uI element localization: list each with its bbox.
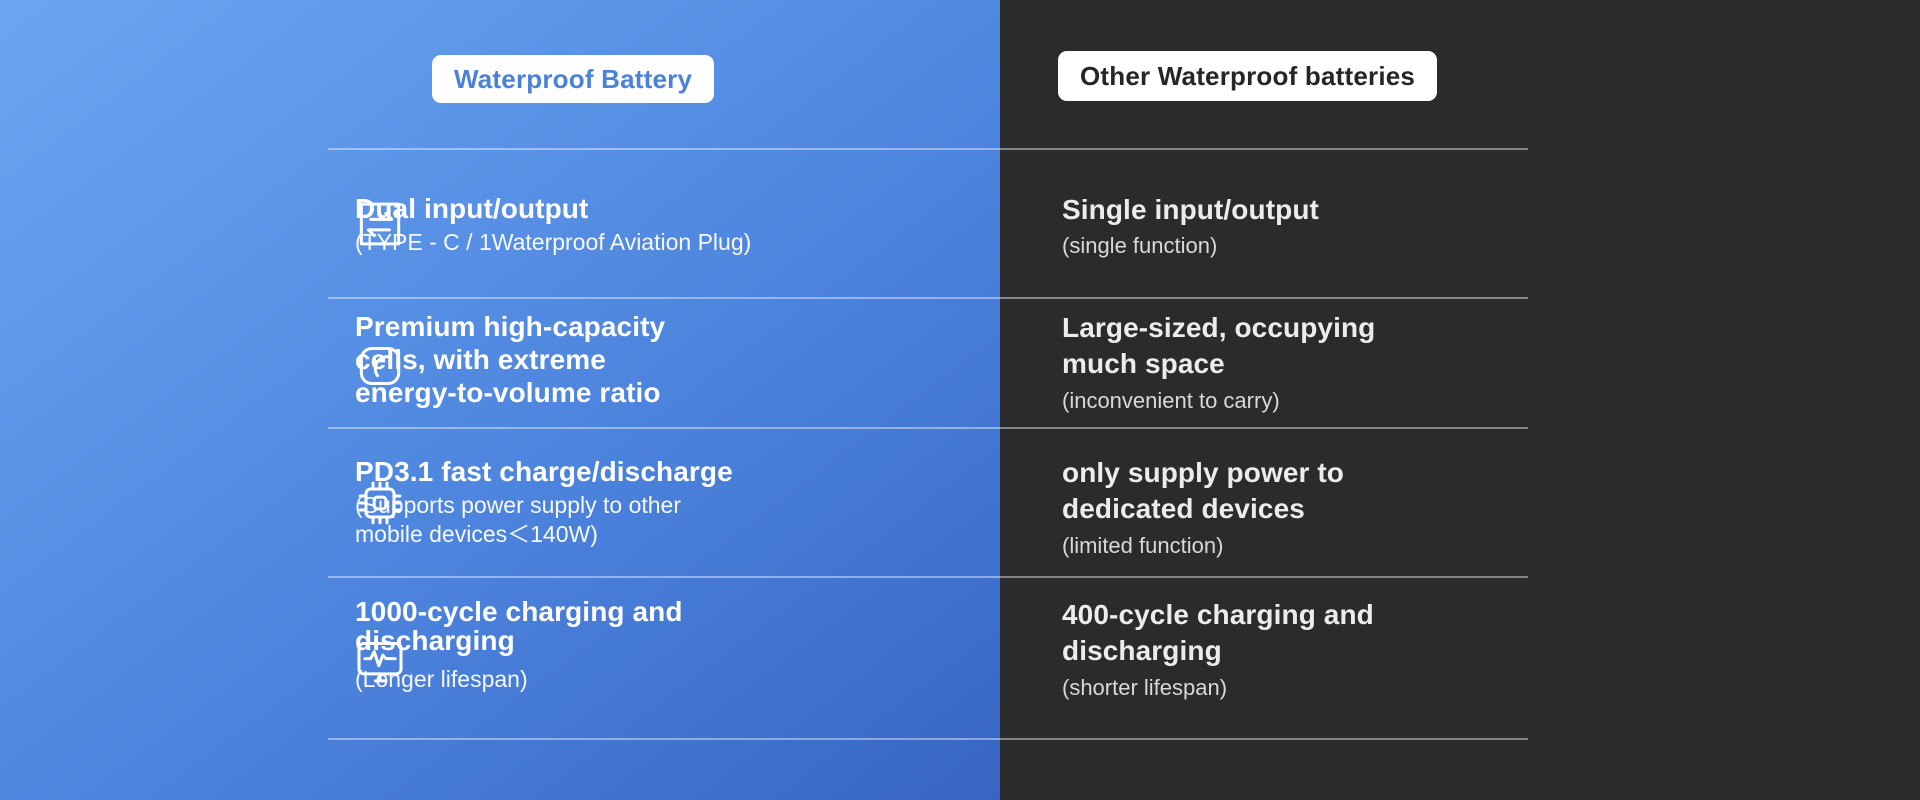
feature-title: Premium high-capacity cells, with extrem… <box>355 310 1000 409</box>
left-cell: PD3.1 fast charge/discharge (Supports po… <box>0 455 1000 559</box>
left-cell: Premium high-capacity cells, with extrem… <box>0 310 1000 414</box>
table-row: Premium high-capacity cells, with extrem… <box>0 310 1920 414</box>
table-header-row: Waterproof Battery Other Waterproof batt… <box>0 55 1920 117</box>
divider-row-3 <box>328 576 1528 578</box>
divider-top <box>328 148 1528 150</box>
feature-subtitle: (inconvenient to carry) <box>1062 387 1920 415</box>
table-row: PD3.1 fast charge/discharge (Supports po… <box>0 455 1920 559</box>
feature-title: Single input/output <box>1062 192 1920 228</box>
feature-subtitle: (Supports power supply to other mobile d… <box>355 491 1000 549</box>
feature-title: Dual input/output <box>355 192 1000 225</box>
feature-title: 400-cycle charging and discharging <box>1062 597 1920 670</box>
header-pill-waterproof-battery: Waterproof Battery <box>432 55 714 103</box>
feature-subtitle: (single function) <box>1062 232 1920 260</box>
right-cell: 400-cycle charging and discharging (shor… <box>1000 597 1920 701</box>
table-row: Dual input/output (TYPE - C / 1Waterproo… <box>0 192 1920 260</box>
right-cell: only supply power to dedicated devices (… <box>1000 455 1920 559</box>
divider-row-1 <box>328 297 1528 299</box>
feature-subtitle: (limited function) <box>1062 532 1920 560</box>
left-cell: Dual input/output (TYPE - C / 1Waterproo… <box>0 192 1000 260</box>
table-row: 1000-cycle charging and discharging (Lon… <box>0 597 1920 701</box>
left-cell: 1000-cycle charging and discharging (Lon… <box>0 597 1000 701</box>
divider-bottom <box>328 738 1528 740</box>
feature-title: 1000-cycle charging and discharging <box>355 597 1000 656</box>
divider-row-2 <box>328 427 1528 429</box>
feature-subtitle: (shorter lifespan) <box>1062 674 1920 702</box>
feature-title: Large-sized, occupying much space <box>1062 310 1920 383</box>
feature-title: PD3.1 fast charge/discharge <box>355 455 1000 488</box>
comparison-table: Waterproof Battery Other Waterproof batt… <box>0 0 1920 800</box>
feature-subtitle: (TYPE - C / 1Waterproof Aviation Plug) <box>355 228 1000 257</box>
right-cell: Large-sized, occupying much space (incon… <box>1000 310 1920 414</box>
header-pill-other-batteries: Other Waterproof batteries <box>1058 51 1437 101</box>
feature-title: only supply power to dedicated devices <box>1062 455 1920 528</box>
right-cell: Single input/output (single function) <box>1000 192 1920 260</box>
comparison-infographic: Waterproof Battery Other Waterproof batt… <box>0 0 1920 800</box>
feature-subtitle: (Longer lifespan) <box>355 665 1000 694</box>
